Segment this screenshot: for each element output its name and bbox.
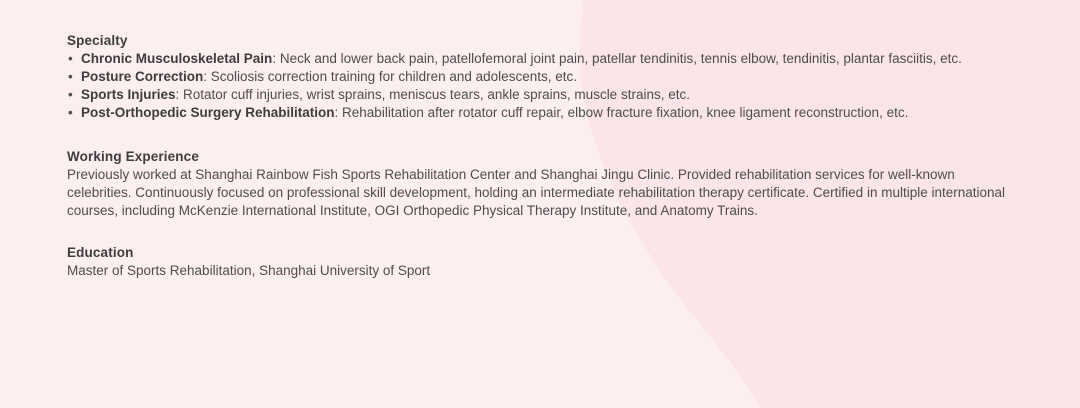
specialty-item-detail: : Rotator cuff injuries, wrist sprains, … — [176, 87, 690, 102]
working-experience-heading: Working Experience — [67, 148, 1027, 166]
specialty-item-detail: : Neck and lower back pain, patellofemor… — [272, 51, 962, 66]
specialty-item-term: Sports Injuries — [81, 87, 176, 102]
education-paragraph: Master of Sports Rehabilitation, Shangha… — [67, 262, 1012, 280]
list-item: Chronic Musculoskeletal Pain: Neck and l… — [67, 50, 1006, 68]
specialty-item-term: Chronic Musculoskeletal Pain — [81, 51, 272, 66]
specialty-item-term: Posture Correction — [81, 69, 203, 84]
list-item: Sports Injuries: Rotator cuff injuries, … — [67, 86, 1006, 104]
section-working-experience: Working Experience Previously worked at … — [67, 148, 1027, 220]
specialty-heading: Specialty — [67, 32, 1027, 50]
specialty-item-term: Post-Orthopedic Surgery Rehabilitation — [81, 105, 335, 120]
section-specialty: Specialty Chronic Musculoskeletal Pain: … — [67, 32, 1027, 122]
working-experience-paragraph: Previously worked at Shanghai Rainbow Fi… — [67, 166, 1012, 220]
list-item: Post-Orthopedic Surgery Rehabilitation: … — [67, 104, 1006, 122]
profile-details-panel: Specialty Chronic Musculoskeletal Pain: … — [0, 0, 1080, 408]
profile-content: Specialty Chronic Musculoskeletal Pain: … — [67, 32, 1027, 280]
specialty-item-detail: : Rehabilitation after rotator cuff repa… — [335, 105, 909, 120]
specialty-list: Chronic Musculoskeletal Pain: Neck and l… — [67, 50, 1027, 122]
section-gap — [67, 122, 1027, 148]
section-gap — [67, 220, 1027, 244]
specialty-item-detail: : Scoliosis correction training for chil… — [203, 69, 577, 84]
list-item: Posture Correction: Scoliosis correction… — [67, 68, 1006, 86]
education-heading: Education — [67, 244, 1027, 262]
section-education: Education Master of Sports Rehabilitatio… — [67, 244, 1027, 280]
